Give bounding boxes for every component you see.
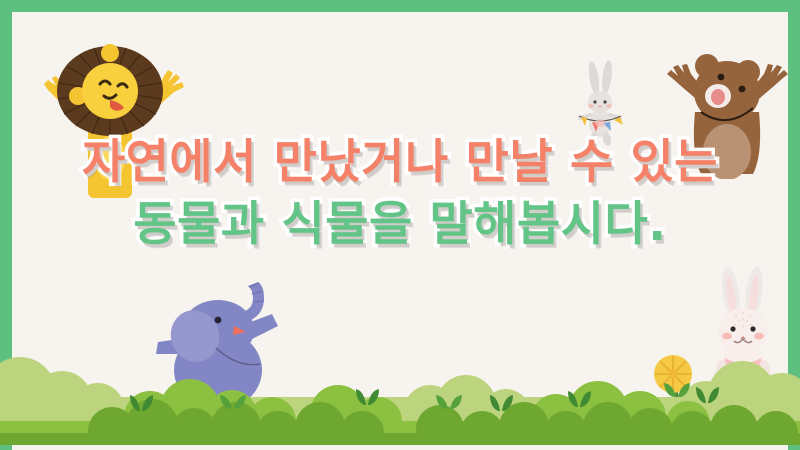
lion-icon bbox=[34, 28, 186, 198]
bear-icon bbox=[657, 34, 788, 179]
slide-canvas: 자연에서 만났거나 만날 수 있는 동물과 식물을 말해봅시다. bbox=[0, 0, 800, 450]
rabbit-with-bunting-icon bbox=[570, 60, 632, 150]
small-rabbit-illustration bbox=[570, 60, 632, 150]
ground-bushes bbox=[0, 335, 800, 450]
bush-silhouette-icon bbox=[0, 335, 800, 445]
bear-illustration bbox=[657, 34, 788, 179]
lion-illustration bbox=[34, 28, 186, 198]
